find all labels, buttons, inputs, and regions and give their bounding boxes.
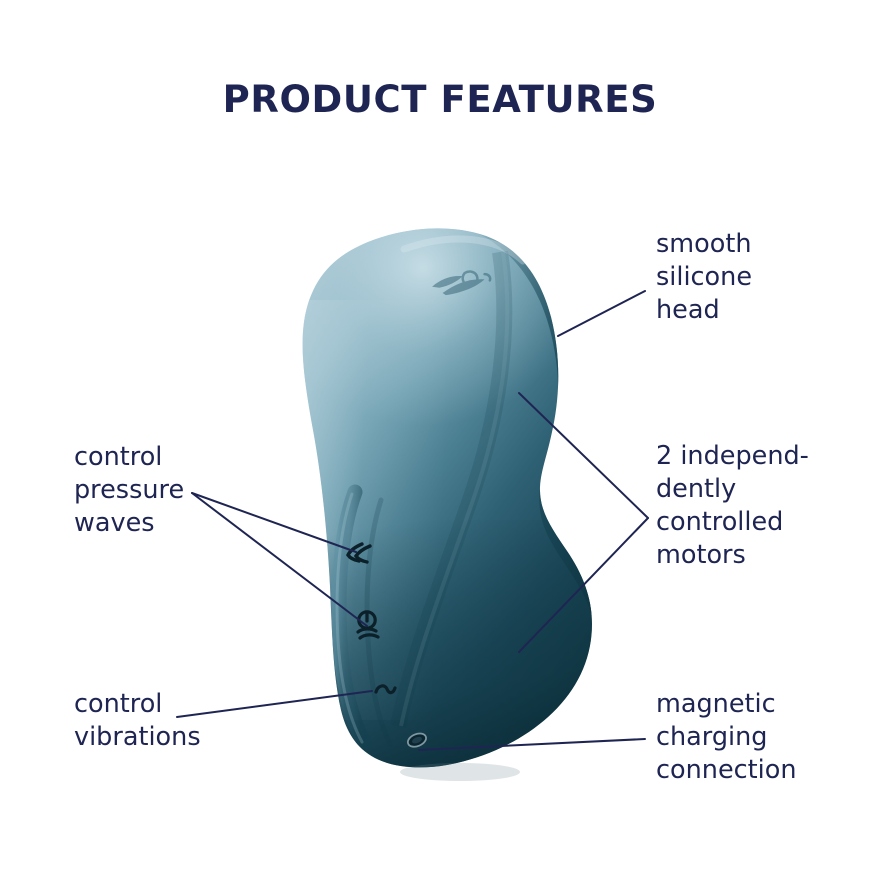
callout-magnetic-charging-connection: magnetic charging connection — [656, 688, 876, 787]
product-features-infographic: PRODUCT FEATURES — [0, 0, 880, 880]
callout-two-independently-controlled-motors: 2 independ- dently controlled motors — [656, 440, 871, 572]
callout-control-vibrations: control vibrations — [74, 688, 289, 754]
callout-smooth-silicone-head: smooth silicone head — [656, 228, 866, 327]
callout-control-pressure-waves: control pressure waves — [74, 441, 284, 540]
product-contact-shadow — [400, 763, 520, 781]
